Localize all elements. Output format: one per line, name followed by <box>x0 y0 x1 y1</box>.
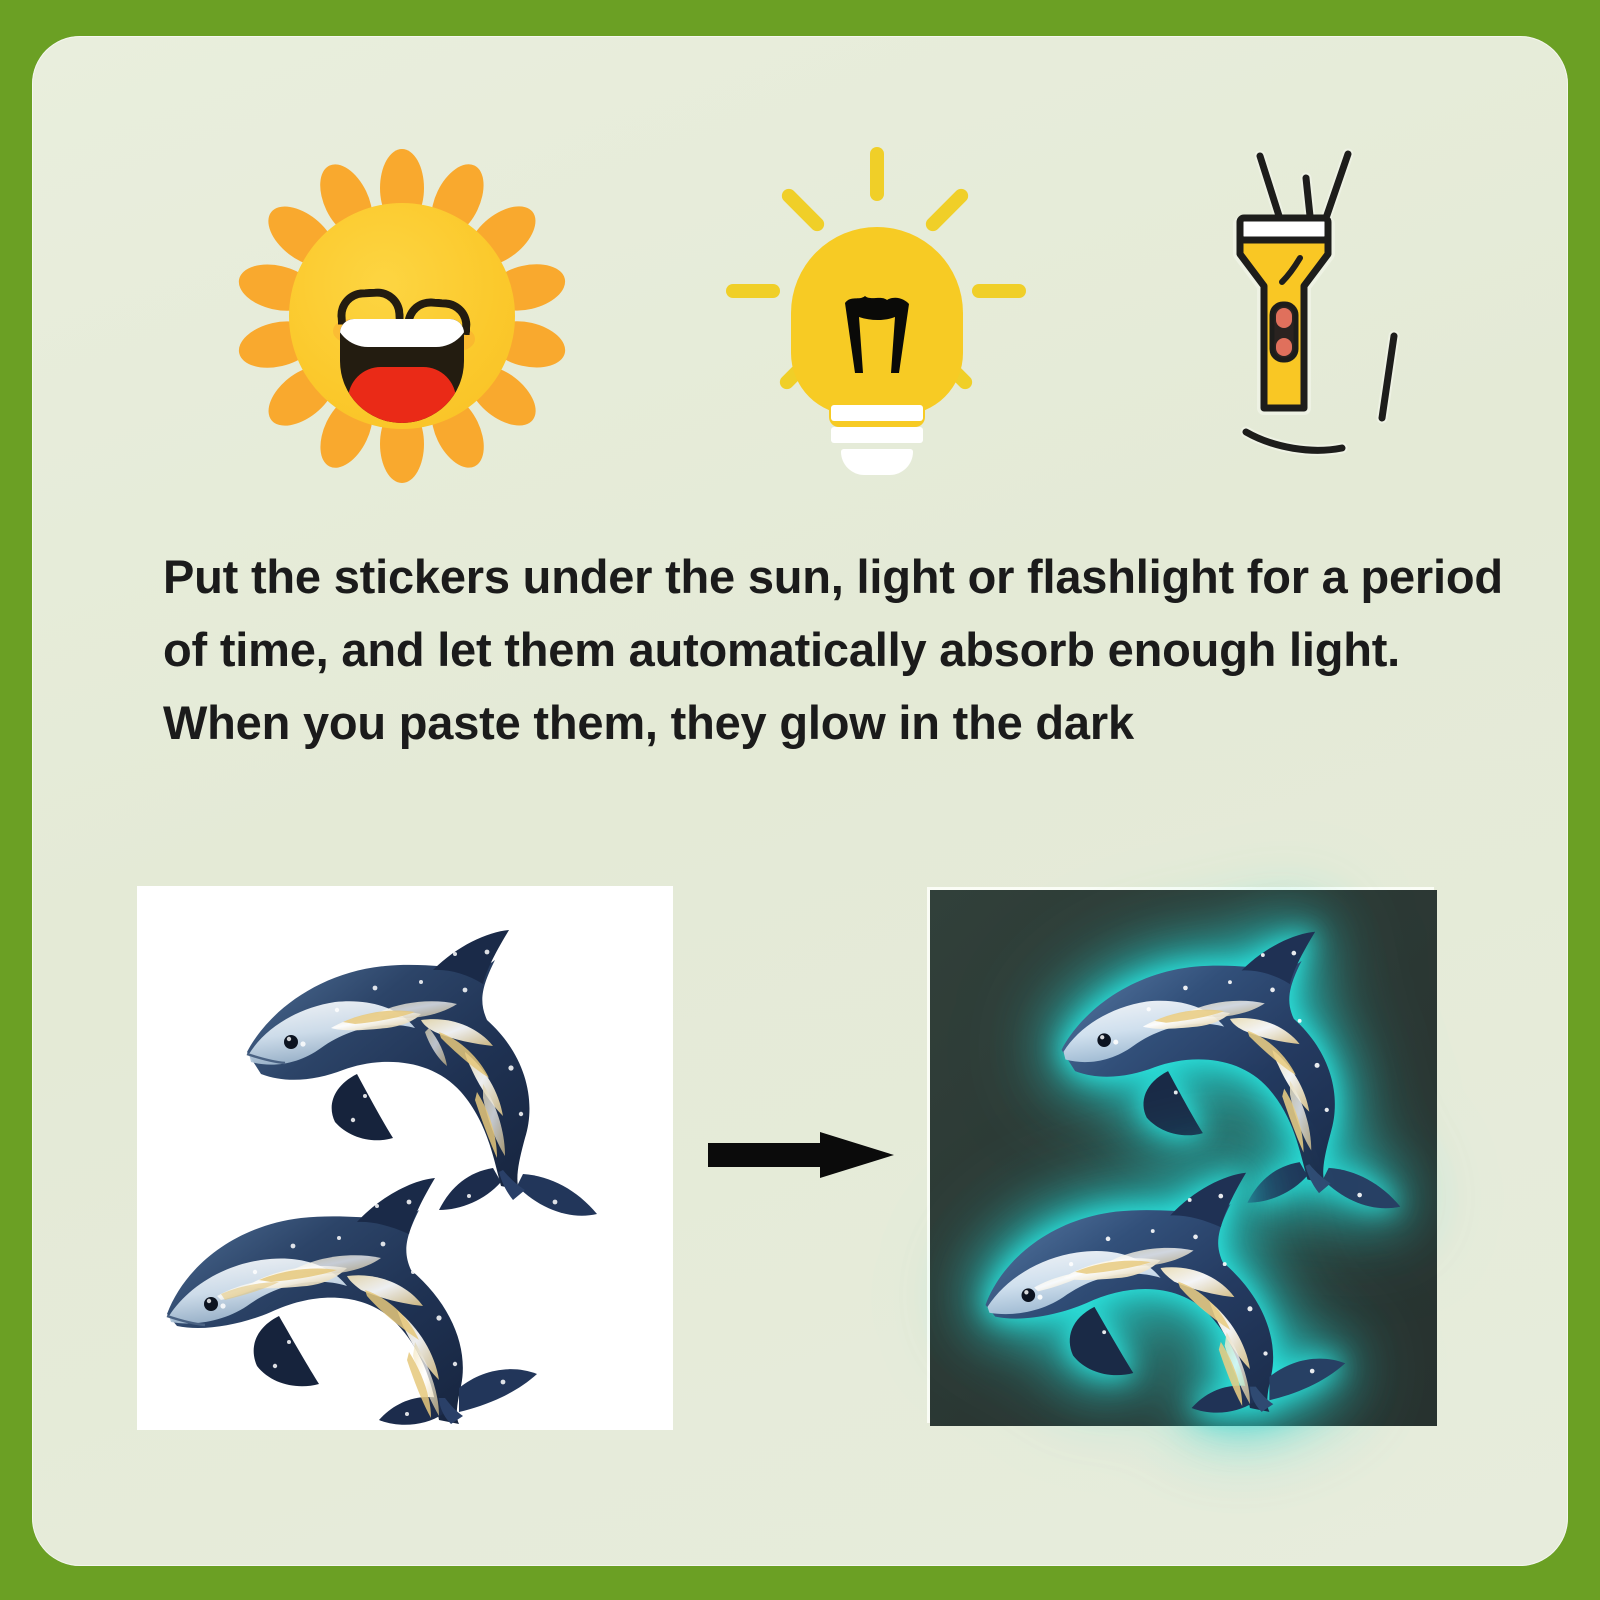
arrow-right-icon <box>708 1132 894 1178</box>
infographic-root: Put the stickers under the sun, light or… <box>0 0 1600 1600</box>
caption-line-2: of time, and let them automatically abso… <box>163 613 1453 686</box>
dolphin-lower-glowing <box>970 1122 1388 1414</box>
sun-mouth <box>340 319 464 423</box>
bulb-ray-e <box>972 284 1026 298</box>
bulb-screw-base <box>831 405 923 489</box>
arrow-head <box>820 1132 894 1178</box>
bulb-filament-icon <box>837 291 917 377</box>
bulb-ray-n <box>870 147 884 201</box>
sun-face <box>289 203 515 429</box>
dolphin-lower <box>151 1126 581 1426</box>
smiling-sun-icon <box>232 146 572 486</box>
bulb-ray-w <box>726 284 780 298</box>
arrow-shaft <box>708 1143 830 1167</box>
bulb-ray-ne <box>923 186 971 234</box>
icon-row <box>32 36 1568 466</box>
caption-line-1: Put the stickers under the sun, light or… <box>163 540 1453 613</box>
caption-line-3: When you paste them, they glow in the da… <box>163 686 1453 759</box>
sun-teeth <box>340 319 464 347</box>
sticker-glow-photo <box>930 890 1437 1426</box>
instruction-text: Put the stickers under the sun, light or… <box>163 540 1453 759</box>
bulb-ray-nw <box>779 186 827 234</box>
sticker-daylight-photo <box>137 886 673 1430</box>
light-bulb-icon <box>722 141 1032 486</box>
sun-tongue <box>348 367 456 423</box>
flashlight-icon <box>1222 136 1442 496</box>
